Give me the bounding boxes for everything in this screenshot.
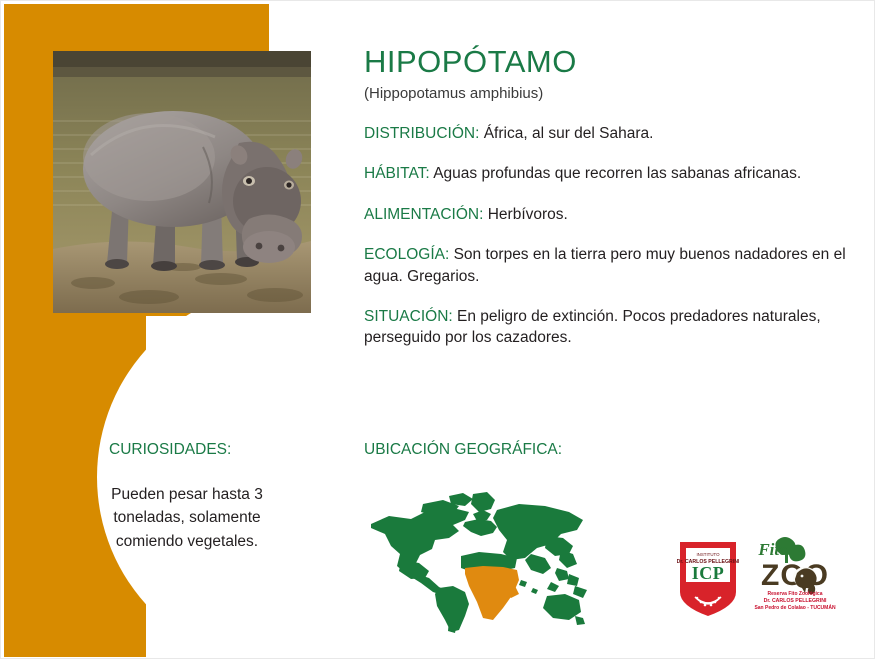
info-panel: HIPOPÓTAMO (Hippopotamus amphibius) DIST… xyxy=(364,45,864,368)
field-habitat-label: HÁBITAT: xyxy=(364,165,430,182)
field-alimentacion: ALIMENTACIÓN: Herbívoros. xyxy=(364,204,864,225)
curiosities-heading: CURIOSIDADES: xyxy=(109,441,231,459)
field-situacion-label: SITUACIÓN: xyxy=(364,308,453,325)
zoo-logo-line2: Dr. CARLOS PELLEGRINI xyxy=(764,598,827,604)
field-habitat: HÁBITAT: Aguas profundas que recorren la… xyxy=(364,163,864,184)
curiosities-text: Pueden pesar hasta 3 toneladas, solament… xyxy=(93,483,281,553)
zoo-logo: Fito ZOO Reserva Fito Zoológica Dr. CARL… xyxy=(749,533,841,619)
world-map-landmasses xyxy=(371,492,587,633)
field-alimentacion-value: Herbívoros. xyxy=(488,206,568,223)
field-situacion: SITUACIÓN: En peligro de extinción. Poco… xyxy=(364,306,864,349)
location-heading: UBICACIÓN GEOGRÁFICA: xyxy=(364,441,562,459)
slide-root: HIPOPÓTAMO (Hippopotamus amphibius) DIST… xyxy=(0,0,875,659)
icp-logo: INSTITUTO Dr. CARLOS PELLEGRINI ICP xyxy=(677,539,739,619)
world-map xyxy=(361,488,601,633)
icp-logo-svg: INSTITUTO Dr. CARLOS PELLEGRINI ICP xyxy=(677,539,739,619)
icp-institution-line: INSTITUTO xyxy=(696,552,720,557)
world-map-svg xyxy=(361,488,601,633)
world-map-highlight-africa xyxy=(465,566,519,620)
field-distribucion-label: DISTRIBUCIÓN: xyxy=(364,125,479,142)
scientific-name: (Hippopotamus amphibius) xyxy=(364,85,864,103)
zoo-logo-line1: Reserva Fito Zoológica xyxy=(767,591,822,597)
zoo-logo-line3: San Pedro de Colalao - TUCUMÁN xyxy=(754,604,836,611)
hippo-photo-illustration xyxy=(53,51,311,313)
zoo-logo-svg: Fito ZOO Reserva Fito Zoológica Dr. CARL… xyxy=(749,533,841,619)
icp-acronym: ICP xyxy=(692,563,725,583)
field-ecologia: ECOLOGÍA: Son torpes en la tierra pero m… xyxy=(364,244,864,287)
field-ecologia-label: ECOLOGÍA: xyxy=(364,246,449,263)
zoo-logo-word-top: Fito xyxy=(757,540,787,559)
field-alimentacion-label: ALIMENTACIÓN: xyxy=(364,206,483,223)
field-distribucion-value: África, al sur del Sahara. xyxy=(484,125,654,142)
page-title: HIPOPÓTAMO xyxy=(364,45,864,79)
hippo-photo xyxy=(53,51,311,313)
field-habitat-value: Aguas profundas que recorren las sabanas… xyxy=(433,165,801,182)
field-distribucion: DISTRIBUCIÓN: África, al sur del Sahara. xyxy=(364,123,864,144)
